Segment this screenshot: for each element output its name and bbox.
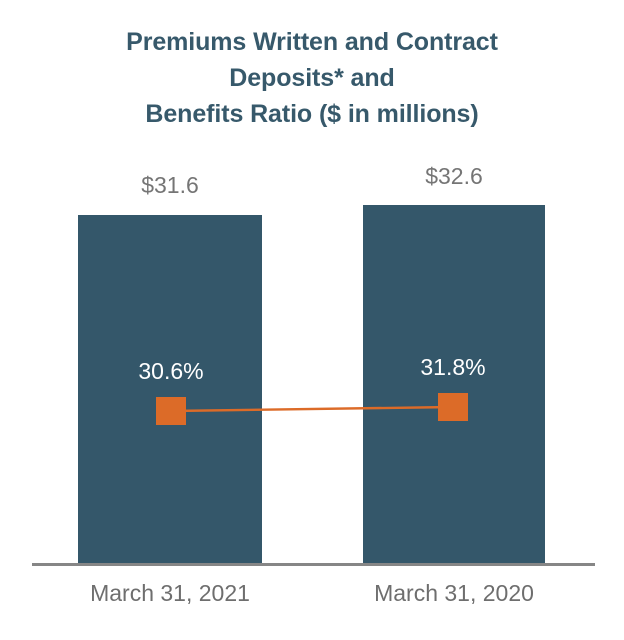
benefits-ratio-line	[0, 0, 624, 640]
ratio-label-march-31-2020: 31.8%	[383, 354, 523, 381]
line-marker-march-31-2020	[438, 393, 468, 421]
chart-container: Premiums Written and Contract Deposits* …	[0, 0, 624, 640]
x-axis-line	[32, 563, 595, 566]
x-axis-label-march-31-2020: March 31, 2020	[363, 580, 545, 607]
plot-area: $31.6 $32.6 30.6% 31.8% March 31, 2021 M…	[0, 0, 624, 640]
line-marker-march-31-2021	[156, 397, 186, 425]
x-axis-label-march-31-2021: March 31, 2021	[78, 580, 262, 607]
ratio-label-march-31-2021: 30.6%	[101, 358, 241, 385]
